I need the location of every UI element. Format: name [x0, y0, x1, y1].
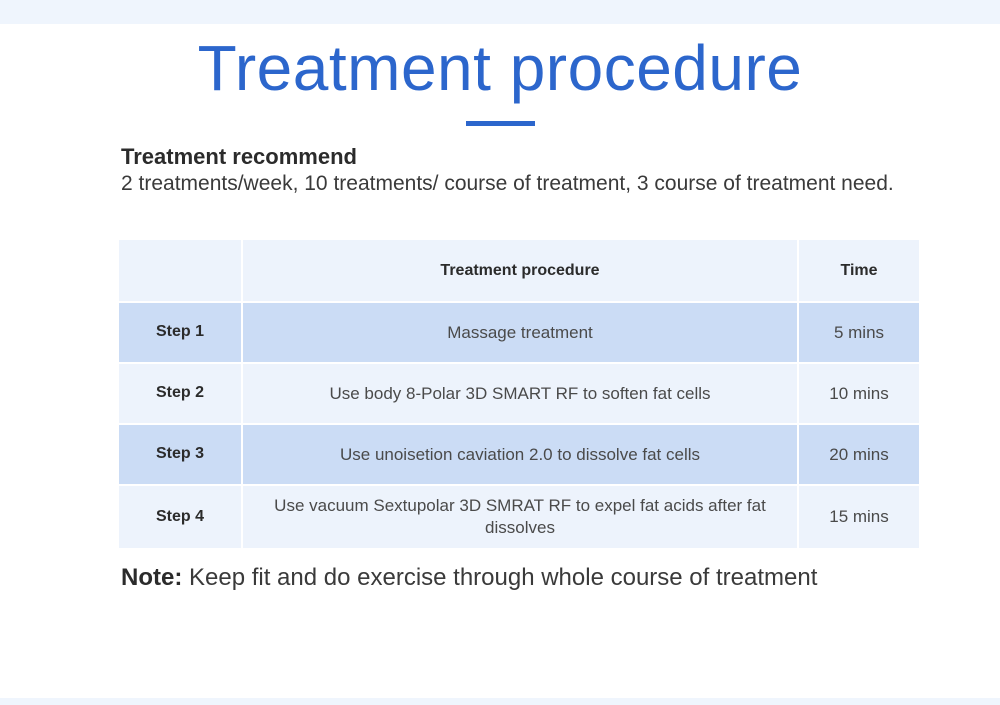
row-procedure-text: Use unoisetion caviation 2.0 to dissolve… — [243, 425, 799, 486]
row-time-value: 5 mins — [799, 303, 919, 364]
treatment-recommend-heading: Treatment recommend — [121, 144, 971, 170]
row-step-label: Step 1 — [119, 303, 243, 364]
row-time-value: 15 mins — [799, 486, 919, 548]
row-time-value: 20 mins — [799, 425, 919, 486]
table-row: Step 1 Massage treatment 5 mins — [119, 303, 919, 364]
slide-page: Treatment procedure Treatment recommend … — [0, 0, 1000, 705]
note-paragraph: Note: Keep fit and do exercise through w… — [121, 562, 901, 593]
bottom-accent-band — [0, 698, 1000, 705]
row-step-label: Step 4 — [119, 486, 243, 548]
treatment-procedure-table: Treatment procedure Time Step 1 Massage … — [119, 240, 919, 548]
table-row: Step 2 Use body 8-Polar 3D SMART RF to s… — [119, 364, 919, 425]
row-step-label: Step 2 — [119, 364, 243, 425]
row-procedure-text: Use vacuum Sextupolar 3D SMRAT RF to exp… — [243, 486, 799, 548]
table-header-row: Treatment procedure Time — [119, 240, 919, 303]
table-row: Step 4 Use vacuum Sextupolar 3D SMRAT RF… — [119, 486, 919, 548]
row-step-label: Step 3 — [119, 425, 243, 486]
page-title-container: Treatment procedure — [0, 33, 1000, 105]
row-procedure-text: Use body 8-Polar 3D SMART RF to soften f… — [243, 364, 799, 425]
note-block: Note: Keep fit and do exercise through w… — [121, 562, 901, 593]
table-header-procedure: Treatment procedure — [243, 240, 799, 303]
treatment-recommend-block: Treatment recommend 2 treatments/week, 1… — [121, 144, 971, 197]
top-accent-band — [0, 0, 1000, 24]
table-header-step — [119, 240, 243, 303]
note-text-body: Keep fit and do exercise through whole c… — [182, 564, 817, 591]
title-underline-accent — [466, 121, 535, 126]
page-title: Treatment procedure — [0, 33, 1000, 105]
treatment-recommend-body: 2 treatments/week, 10 treatments/ course… — [121, 172, 951, 197]
table-header-time: Time — [799, 240, 919, 303]
note-label: Note: — [121, 564, 182, 591]
row-procedure-text: Massage treatment — [243, 303, 799, 364]
table-row: Step 3 Use unoisetion caviation 2.0 to d… — [119, 425, 919, 486]
row-time-value: 10 mins — [799, 364, 919, 425]
